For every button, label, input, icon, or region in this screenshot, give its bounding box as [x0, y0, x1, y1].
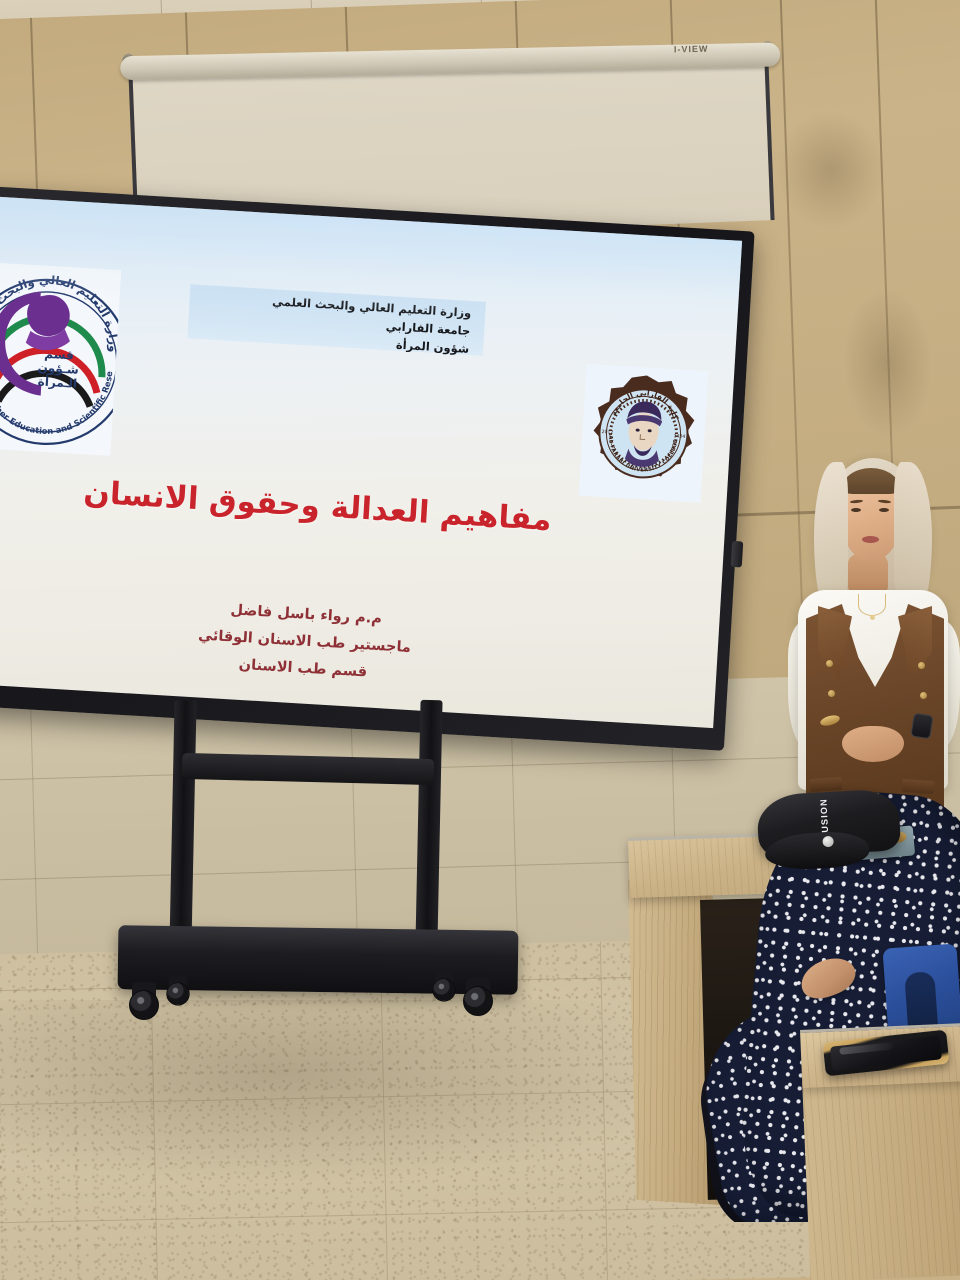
- logo-right-year-right: 1434: [673, 433, 685, 440]
- cart-caster-front-left: [128, 982, 160, 1018]
- lips: [862, 536, 879, 543]
- cart-caster-back-left: [166, 976, 191, 1004]
- cart-caster-front-right: [462, 978, 494, 1014]
- ministry-women-affairs-logo: وزارة التعليم العالي والبحث العلمي Minis…: [0, 262, 121, 456]
- vest-button-2: [828, 690, 835, 697]
- eye-right: [879, 508, 889, 512]
- projector-brand-label: I-VIEW: [673, 44, 708, 55]
- vest-button-4: [920, 692, 927, 699]
- necklace-pendant: [870, 615, 875, 620]
- logo-right-year-left: 2012: [601, 429, 613, 436]
- cart-leg-right: [415, 700, 442, 944]
- al-farabi-university-college-logo: كلية الفارابي الجامعة AL-FARABI UNIVERSI…: [579, 364, 709, 503]
- cart-middle-shelf: [182, 753, 435, 785]
- display-screen: وزارة التعليم العالي والبحث العلمي Minis…: [0, 197, 742, 729]
- vest-button-1: [826, 660, 833, 667]
- cart-leg-left: [169, 700, 196, 948]
- flat-panel-display[interactable]: وزارة التعليم العالي والبحث العلمي Minis…: [0, 186, 755, 751]
- slide-presenter-block: م.م رواء باسل فاضل ماجستير طب الاسنان ال…: [68, 588, 542, 696]
- display-side-knob[interactable]: [731, 541, 744, 568]
- smartwatch: [910, 713, 934, 740]
- eye-left: [851, 508, 861, 512]
- lecture-room-photo: I-VIEW: [0, 0, 960, 1280]
- necklace: [858, 594, 886, 616]
- rolling-tv-cart: [110, 700, 530, 1060]
- vest-button-3: [918, 662, 925, 669]
- presentation-slide: وزارة التعليم العالي والبحث العلمي Minis…: [0, 197, 742, 729]
- slide-title: مفاهيم العدالة وحقوق الانسان: [37, 472, 598, 541]
- logo-left-center-line3: الـمرأة: [37, 373, 77, 390]
- black-shoulder-bag[interactable]: FUSION: [756, 784, 902, 875]
- clasped-hands: [842, 726, 904, 762]
- slide-header-text: وزارة التعليم العالي والبحث العلمي جامعة…: [187, 284, 480, 359]
- desk-right-front-panel: [802, 1074, 960, 1280]
- cart-caster-back-right: [432, 972, 457, 1000]
